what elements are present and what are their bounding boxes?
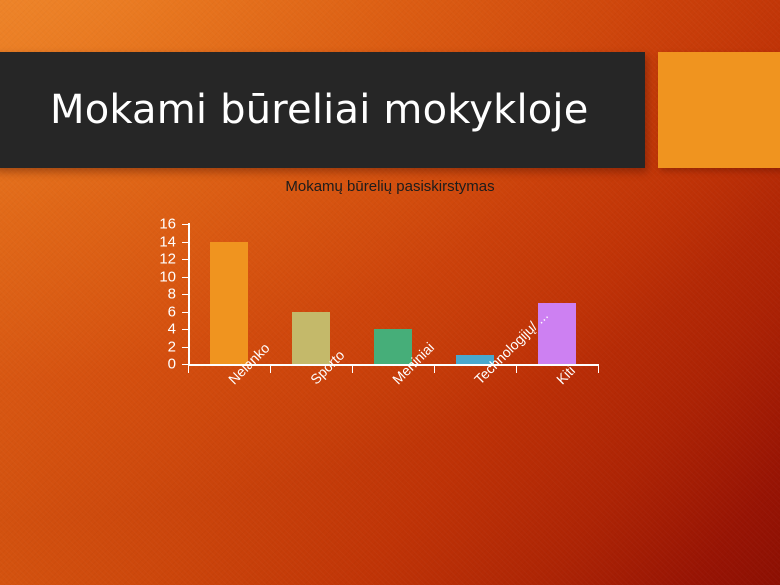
y-axis-tick-label: 4 <box>168 322 176 337</box>
bar-chart[interactable]: Mokamų būrelių pasiskirstymas 0246810121… <box>120 178 660 508</box>
y-axis-tick-label: 12 <box>159 252 176 267</box>
y-axis-tick-label: 8 <box>168 287 176 302</box>
y-axis-tick-label: 16 <box>159 217 176 232</box>
bar-1[interactable] <box>210 242 248 365</box>
presentation-slide: Mokami būreliai mokykloje Mokamų būrelių… <box>0 0 780 585</box>
y-axis-tick-label: 6 <box>168 304 176 319</box>
title-bar: Mokami būreliai mokykloje <box>0 52 645 168</box>
x-axis-tick <box>434 365 435 373</box>
y-axis-tick-label: 2 <box>168 339 176 354</box>
slide-title: Mokami būreliai mokykloje <box>50 87 589 133</box>
x-axis-tick <box>516 365 517 373</box>
chart-title: Mokamų būrelių pasiskirstymas <box>120 178 660 195</box>
bar-2[interactable] <box>292 312 330 365</box>
plot-area <box>188 224 598 364</box>
x-axis-tick <box>188 365 189 373</box>
x-axis-category-label: Kiti <box>553 362 578 387</box>
x-axis-tick <box>270 365 271 373</box>
y-axis-tick-label: 0 <box>168 357 176 372</box>
x-axis-tick <box>352 365 353 373</box>
accent-block <box>658 52 780 168</box>
x-axis-tick <box>598 365 599 373</box>
y-axis-tick-label: 10 <box>159 269 176 284</box>
y-axis-tick-label: 14 <box>159 234 176 249</box>
